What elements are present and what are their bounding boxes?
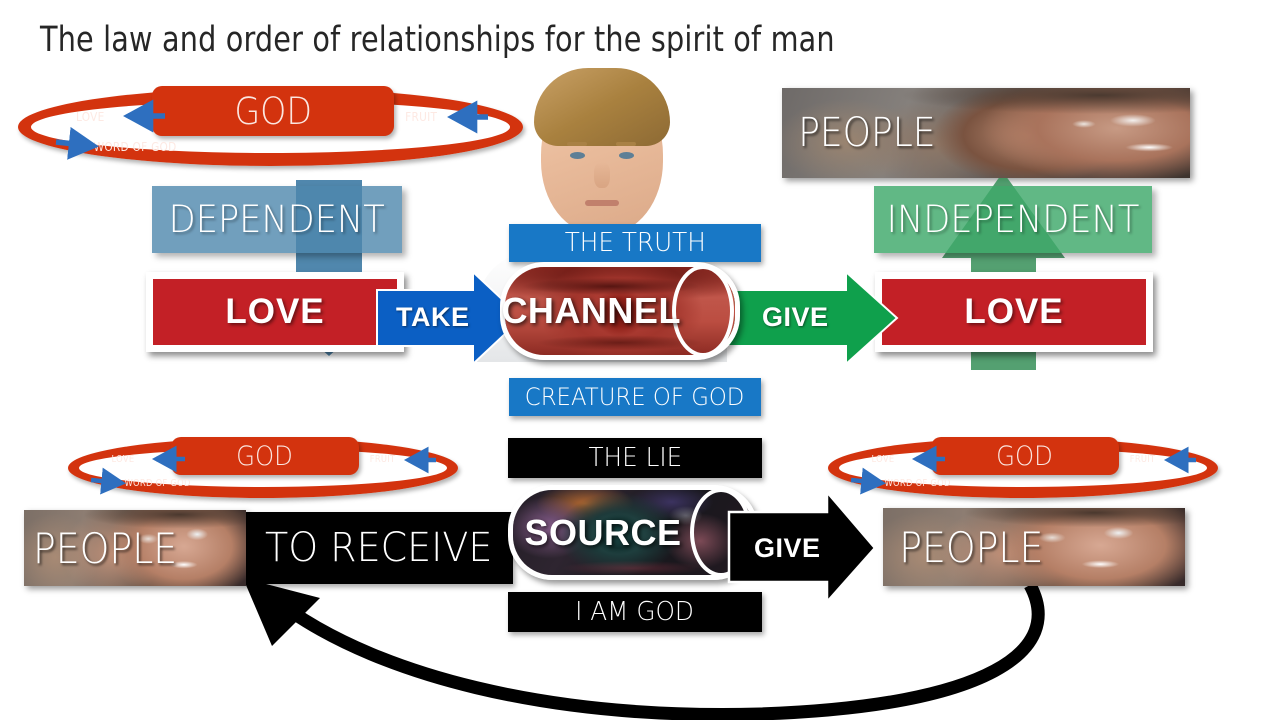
god-ring-arrows bbox=[18, 88, 523, 166]
source-cylinder: SOURCE bbox=[508, 485, 758, 580]
people-photo-bottom-right: PEOPLE bbox=[883, 508, 1185, 586]
god-ring-arrows bbox=[68, 438, 458, 498]
give-label-bottom: GIVE bbox=[754, 533, 821, 564]
portrait-hair bbox=[534, 68, 670, 146]
to-receive-label: TO RECEIVE bbox=[265, 525, 492, 571]
people-label-bottom-right: PEOPLE bbox=[883, 523, 1043, 572]
dependent-box: DEPENDENT bbox=[152, 186, 402, 253]
take-label: TAKE bbox=[396, 302, 470, 333]
independent-box: INDEPENDENT bbox=[874, 186, 1152, 253]
channel-top-caption-text: THE TRUTH bbox=[564, 228, 705, 258]
love-label-left: LOVE bbox=[225, 292, 324, 332]
source-top-caption-text: THE LIE bbox=[588, 443, 682, 473]
channel-label: CHANNEL bbox=[500, 290, 682, 332]
love-box-left: LOVE bbox=[146, 272, 404, 352]
portrait-nose bbox=[594, 162, 610, 188]
god-ring-bottom-right: GOD LOVE FRUIT WORD OF GOD bbox=[828, 438, 1218, 498]
people-label-top: PEOPLE bbox=[782, 110, 936, 156]
curved-feedback-arrowhead bbox=[243, 578, 320, 646]
people-photo-bottom-left: PEOPLE bbox=[24, 510, 246, 586]
people-label-bottom-left: PEOPLE bbox=[24, 524, 177, 573]
channel-bottom-caption-text: CREATURE OF GOD bbox=[525, 383, 745, 411]
dependent-label: DEPENDENT bbox=[169, 198, 385, 241]
portrait-eye-right bbox=[619, 152, 634, 159]
slide-canvas: The law and order of relationships for t… bbox=[0, 0, 1280, 720]
channel-top-caption: THE TRUTH bbox=[509, 224, 761, 262]
source-bottom-caption: I AM GOD bbox=[508, 592, 762, 632]
page-title: The law and order of relationships for t… bbox=[40, 18, 835, 62]
independent-label: INDEPENDENT bbox=[887, 198, 1140, 241]
give-label-top: GIVE bbox=[762, 302, 829, 333]
source-top-caption: THE LIE bbox=[508, 438, 762, 478]
god-ring-bottom-left: GOD LOVE FRUIT WORD OF GOD bbox=[68, 438, 458, 498]
source-bottom-caption-text: I AM GOD bbox=[576, 597, 695, 627]
god-ring-arrows bbox=[828, 438, 1218, 498]
portrait-brow-left bbox=[567, 142, 587, 146]
channel-cylinder: CHANNEL bbox=[500, 262, 740, 360]
portrait-eye-left bbox=[570, 152, 585, 159]
portrait-brow-right bbox=[616, 142, 636, 146]
love-label-right: LOVE bbox=[964, 292, 1063, 332]
channel-bottom-caption: CREATURE OF GOD bbox=[509, 378, 761, 416]
love-box-right: LOVE bbox=[875, 272, 1153, 352]
to-receive-box: TO RECEIVE bbox=[245, 512, 513, 584]
god-ring-top: GOD LOVE FRUIT WORD OF GOD bbox=[18, 88, 523, 166]
people-photo-top: PEOPLE bbox=[782, 88, 1190, 178]
portrait-mouth bbox=[585, 200, 619, 206]
source-label: SOURCE bbox=[508, 512, 698, 554]
